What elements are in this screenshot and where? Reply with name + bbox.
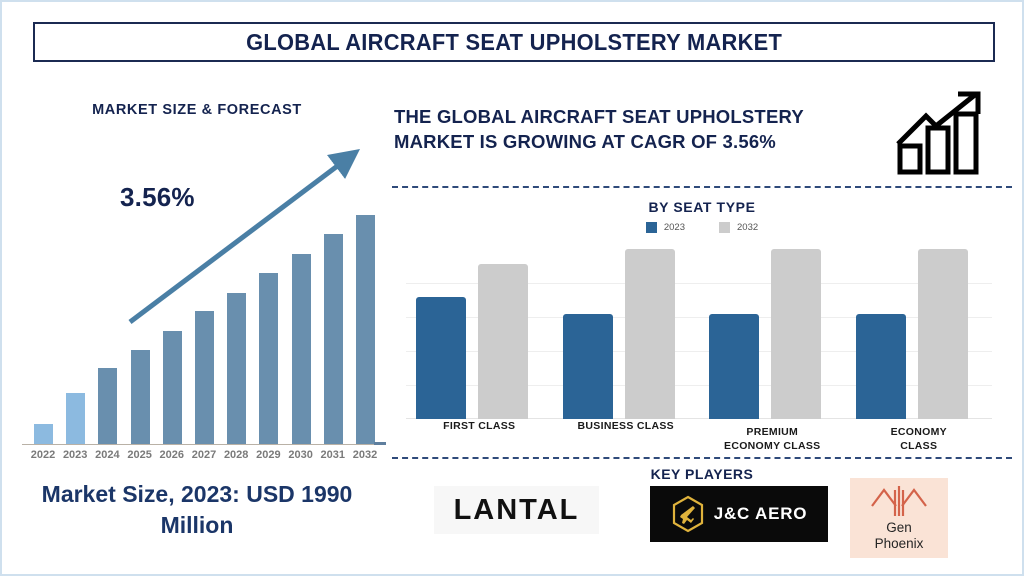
bar-2031: [324, 234, 343, 444]
seat-category-label-line: ECONOMY: [846, 425, 993, 439]
seat-category-label-line: PREMIUM: [699, 425, 846, 439]
logo-lantal-text: LANTAL: [454, 494, 580, 527]
year-label-2024: 2024: [91, 449, 123, 461]
year-label-2028: 2028: [220, 449, 252, 461]
seat-bar-2032: [478, 264, 528, 419]
year-label-2022: 2022: [27, 449, 59, 461]
market-size-bar: [259, 273, 278, 444]
year-label-2032: 2032: [349, 449, 381, 461]
seat-bar-2032: [625, 249, 675, 419]
seat-group-2: [553, 249, 700, 419]
market-size-bar: [324, 234, 343, 444]
seat-category-label-line: BUSINESS CLASS: [553, 419, 700, 433]
by-seat-type-bar-chart: [406, 249, 992, 419]
seat-bar-2032: [918, 249, 968, 419]
seat-category-label-line: CLASS: [846, 439, 993, 453]
bar-2025: [131, 350, 150, 444]
year-label-2025: 2025: [124, 449, 156, 461]
market-size-bar: [356, 215, 375, 444]
market-size-bar: [292, 254, 311, 444]
bar-chart-growth-icon: [892, 88, 1002, 176]
logo-lantal: LANTAL: [434, 486, 599, 534]
by-seat-type-category-labels: FIRST CLASSBUSINESS CLASSPREMIUMECONOMY …: [406, 419, 992, 459]
left-chart-axis-end-dash: [374, 442, 386, 445]
market-size-bar: [34, 424, 53, 444]
market-size-forecast-heading: MARKET SIZE & FORECAST: [10, 102, 384, 118]
bar-2032: [356, 215, 375, 444]
bar-2026: [163, 331, 182, 444]
logo-jc-aero-text: J&C AERO: [714, 504, 808, 524]
hexagon-airplane-icon: [671, 495, 705, 533]
logo-gen-phoenix-text: Gen Phoenix: [875, 520, 924, 552]
market-size-bar: [195, 311, 214, 444]
logo-gen-phoenix: Gen Phoenix: [850, 478, 948, 558]
seat-bar-2032: [771, 249, 821, 419]
seat-bar-2023: [563, 314, 613, 419]
legend-item-2032: 2032: [719, 222, 758, 233]
market-growth-headline: THE GLOBAL AIRCRAFT SEAT UPHOLSTERY MARK…: [394, 104, 864, 154]
bar-2030: [292, 254, 311, 444]
bar-2022: [34, 424, 53, 444]
market-size-bar: [227, 293, 246, 444]
year-label-2031: 2031: [317, 449, 349, 461]
seat-category-label-3: PREMIUMECONOMY CLASS: [699, 425, 846, 453]
logo-jc-aero: J&C AERO: [650, 486, 828, 542]
bar-2027: [195, 311, 214, 444]
legend-swatch-2023: [646, 222, 657, 233]
divider-top: [392, 186, 1012, 188]
right-panel: THE GLOBAL AIRCRAFT SEAT UPHOLSTERY MARK…: [392, 94, 1012, 574]
logo-gen-phoenix-line1: Gen: [875, 520, 924, 536]
bar-2023: [66, 393, 85, 444]
seat-category-label-2: BUSINESS CLASS: [553, 419, 700, 433]
seat-category-label-line: FIRST CLASS: [406, 419, 553, 433]
seat-category-label-4: ECONOMYCLASS: [846, 425, 993, 453]
seat-group-4: [846, 249, 993, 419]
bar-2024: [98, 368, 117, 444]
legend-label-2023: 2023: [664, 222, 685, 233]
market-size-bar: [98, 368, 117, 444]
left-chart-year-labels: 2022202320242025202620272028202920302031…: [18, 449, 382, 467]
legend-swatch-2032: [719, 222, 730, 233]
bar-2029: [259, 273, 278, 444]
year-label-2029: 2029: [252, 449, 284, 461]
page-title: GLOBAL AIRCRAFT SEAT UPHOLSTERY MARKET: [246, 29, 782, 56]
by-seat-type-heading: BY SEAT TYPE: [392, 199, 1012, 215]
market-size-forecast-panel: MARKET SIZE & FORECAST 3.56% 20222023202…: [10, 94, 384, 570]
seat-category-label-line: ECONOMY CLASS: [699, 439, 846, 453]
phoenix-mark-icon: [868, 484, 930, 518]
title-banner: GLOBAL AIRCRAFT SEAT UPHOLSTERY MARKET: [33, 22, 995, 62]
market-size-bar: [66, 393, 85, 444]
year-label-2023: 2023: [59, 449, 91, 461]
bar-2028: [227, 293, 246, 444]
year-label-2026: 2026: [156, 449, 188, 461]
seat-group-3: [699, 249, 846, 419]
legend-item-2023: 2023: [646, 222, 685, 233]
seat-bar-2023: [856, 314, 906, 419]
seat-bar-2023: [416, 297, 466, 419]
year-label-2030: 2030: [285, 449, 317, 461]
left-chart-axis-line: [22, 444, 378, 445]
seat-category-label-1: FIRST CLASS: [406, 419, 553, 433]
market-size-bar: [163, 331, 182, 444]
seat-bar-2023: [709, 314, 759, 419]
market-size-bar-chart: [22, 194, 378, 444]
logo-gen-phoenix-line2: Phoenix: [875, 536, 924, 552]
market-size-bar: [131, 350, 150, 444]
market-size-value-note: Market Size, 2023: USD 1990 Million: [10, 479, 384, 541]
seat-group-1: [406, 249, 553, 419]
infographic-canvas: GLOBAL AIRCRAFT SEAT UPHOLSTERY MARKET M…: [0, 0, 1024, 576]
legend-label-2032: 2032: [737, 222, 758, 233]
divider-bottom: [392, 457, 1012, 459]
key-players-logos: LANTAL J&C AERO Gen: [392, 486, 1012, 566]
seat-type-legend: 20232032: [392, 222, 1012, 233]
year-label-2027: 2027: [188, 449, 220, 461]
